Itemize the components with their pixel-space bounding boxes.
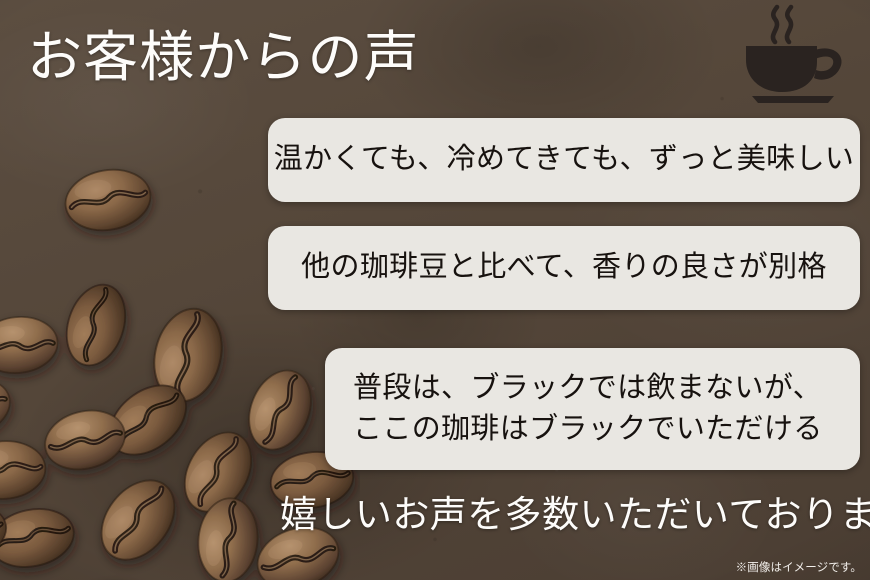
testimonial-text-3-line-1: 普段は、ブラックでは飲まないが、 (353, 368, 822, 409)
testimonial-bubble-1: 温かくても、冷めてきても、ずっと美味しい (268, 118, 860, 202)
coffee-cup-icon (742, 4, 850, 108)
testimonial-bubble-2: 他の珈琲豆と比べて、香りの良さが別格 (268, 226, 860, 310)
closing-caption: 嬉しいお声を多数いただいております。 (280, 494, 870, 538)
testimonial-text-1: 温かくても、冷めてきても、ずっと美味しい (274, 139, 855, 180)
testimonial-text-2: 他の珈琲豆と比べて、香りの良さが別格 (301, 247, 827, 288)
image-disclaimer: ※画像はイメージです。 (736, 559, 862, 575)
testimonial-banner: お客様からの声 温かくても、冷めてきても、ずっと美味しい 他の珈琲豆と比べて、香… (0, 0, 870, 580)
testimonial-text-3-line-2: ここの珈琲はブラックでいただける (353, 409, 823, 450)
page-title: お客様からの声 (27, 26, 420, 91)
testimonial-bubble-3: 普段は、ブラックでは飲まないが、 ここの珈琲はブラックでいただける (325, 348, 860, 470)
